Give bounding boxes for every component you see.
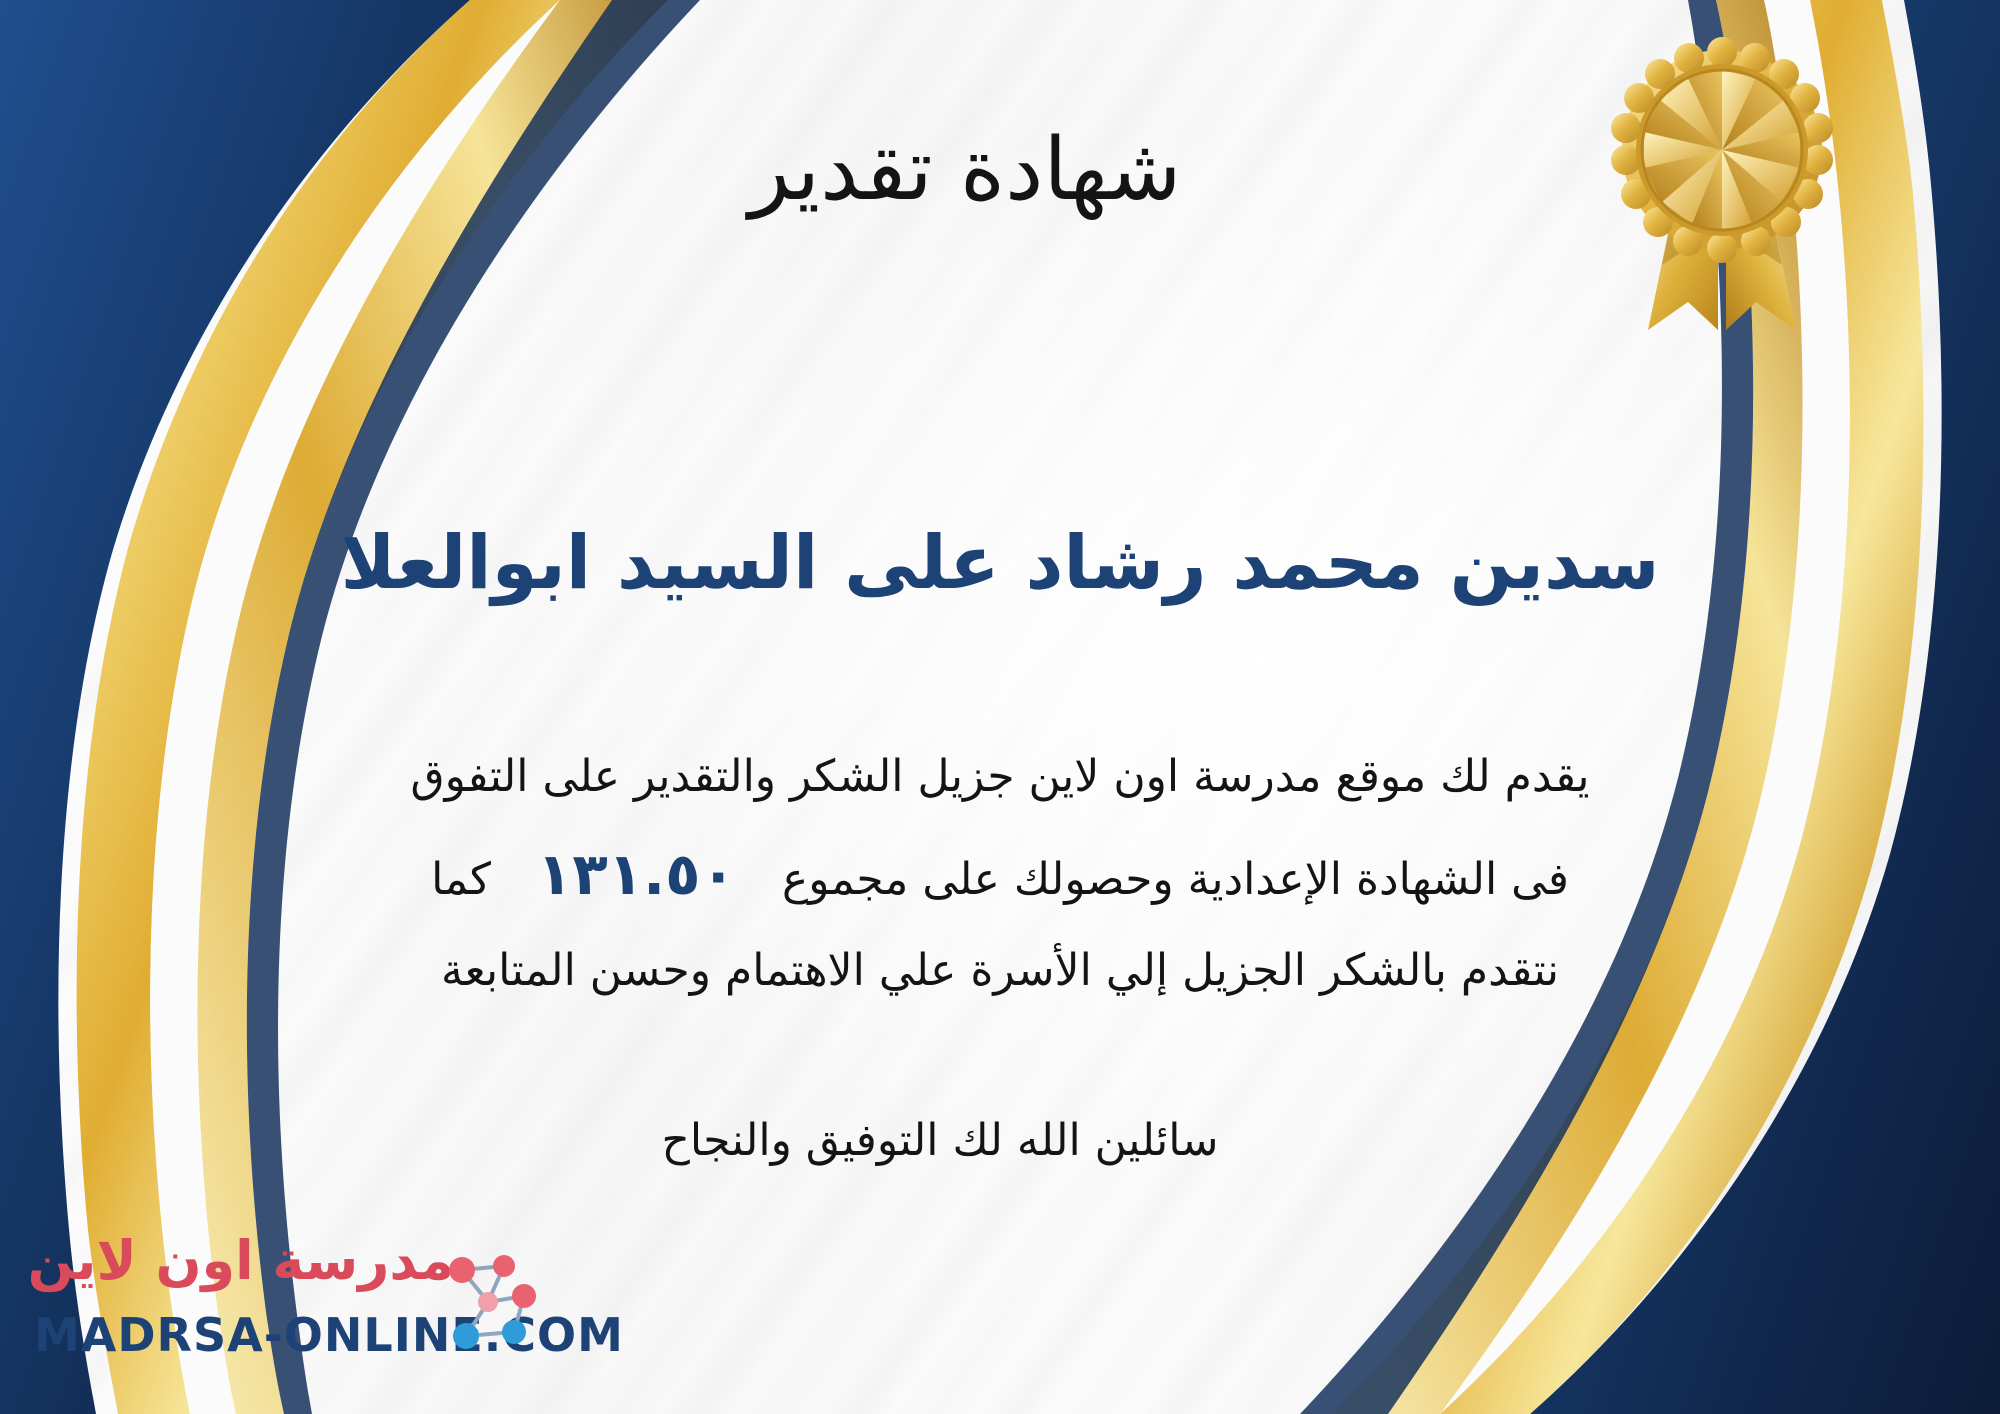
- closing-line: سائلين الله لك التوفيق والنجاح: [0, 1115, 2000, 1166]
- body-line-1: يقدم لك موقع مدرسة اون لاين جزيل الشكر و…: [170, 735, 1830, 819]
- body-line-2-left: كما: [431, 854, 491, 905]
- total-score-value: ١٣١.٥٠: [491, 819, 782, 929]
- brand-name-latin: MADRSA-ONLINE.COM: [34, 1308, 454, 1362]
- body-line-2: فى الشهادة الإعدادية وحصولك على مجموع١٣١…: [170, 819, 1830, 929]
- body-line-3: نتقدم بالشكر الجزيل إلي الأسرة علي الاهت…: [170, 929, 1830, 1013]
- recipient-name: سدين محمد رشاد على السيد ابوالعلا: [0, 520, 2000, 606]
- brand-logo[interactable]: مدرسة اون لاين MADRSA-ONLINE.COM: [34, 1234, 504, 1384]
- brand-name-arabic: مدرسة اون لاين: [34, 1234, 454, 1288]
- certificate-body: يقدم لك موقع مدرسة اون لاين جزيل الشكر و…: [170, 735, 1830, 1012]
- certificate-canvas: شهادة تقدير سدين محمد رشاد على السيد ابو…: [0, 0, 2000, 1414]
- network-nodes-icon: [428, 1240, 548, 1360]
- body-line-2-right: فى الشهادة الإعدادية وحصولك على مجموع: [782, 854, 1569, 905]
- certificate-title: شهادة تقدير: [0, 120, 2000, 220]
